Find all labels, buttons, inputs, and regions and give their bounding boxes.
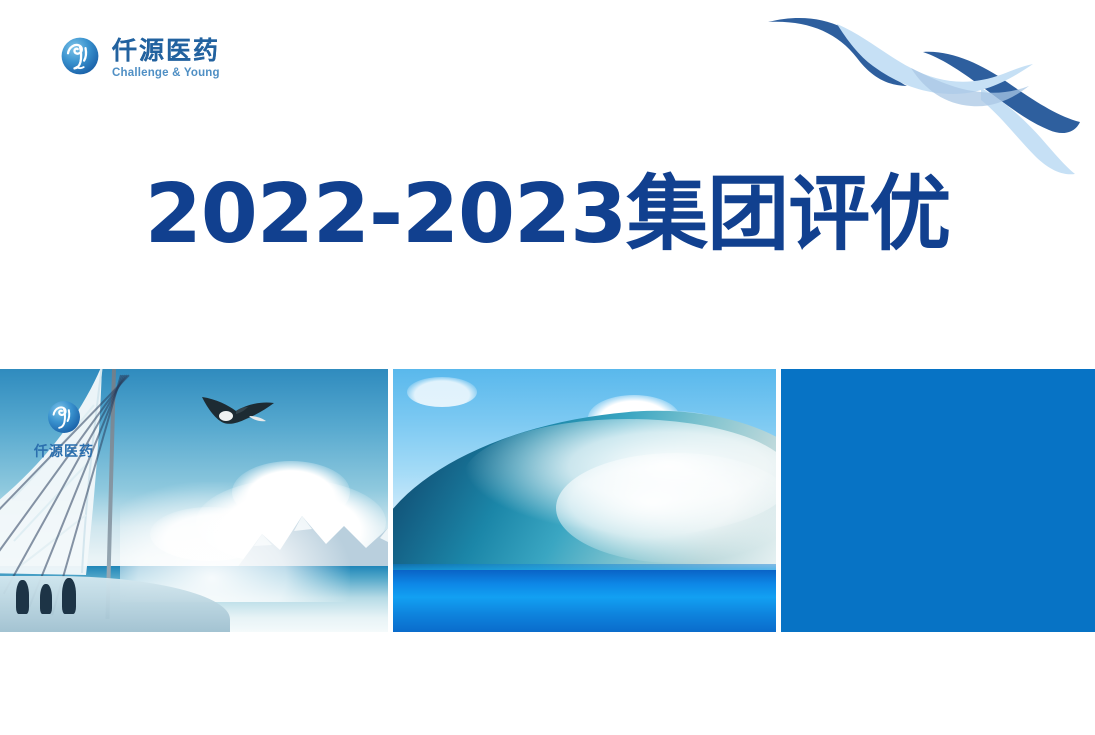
brand-tagline: Challenge & Young bbox=[112, 68, 220, 80]
company-emblem-icon bbox=[44, 397, 84, 437]
crew-figure bbox=[40, 584, 52, 614]
underwater-section bbox=[393, 570, 776, 632]
company-emblem-icon bbox=[57, 33, 103, 84]
crew-figure bbox=[62, 578, 76, 614]
eagle-icon bbox=[196, 383, 280, 439]
panel-wave-photo bbox=[393, 369, 776, 632]
panel-sailboat-photo: 仟源医药 bbox=[0, 369, 388, 632]
crew-figure bbox=[16, 580, 29, 614]
image-strip: 仟源医药 bbox=[0, 369, 1095, 632]
cloud-shape bbox=[407, 377, 477, 407]
brand-wordmark: 仟源医药 Challenge & Young bbox=[112, 38, 220, 80]
brand-logo: 仟源医药 Challenge & Young bbox=[57, 33, 220, 84]
page-title: 2022-2023集团评优 bbox=[0, 168, 1095, 262]
sail-brand-logo: 仟源医药 bbox=[18, 397, 110, 461]
presentation-slide: 仟源医药 Challenge & Young 2022-2023集团评优 bbox=[0, 0, 1095, 735]
sail-brand-name: 仟源医药 bbox=[18, 441, 110, 461]
panel-solid-block bbox=[781, 369, 1095, 632]
brand-name: 仟源医药 bbox=[112, 38, 220, 63]
